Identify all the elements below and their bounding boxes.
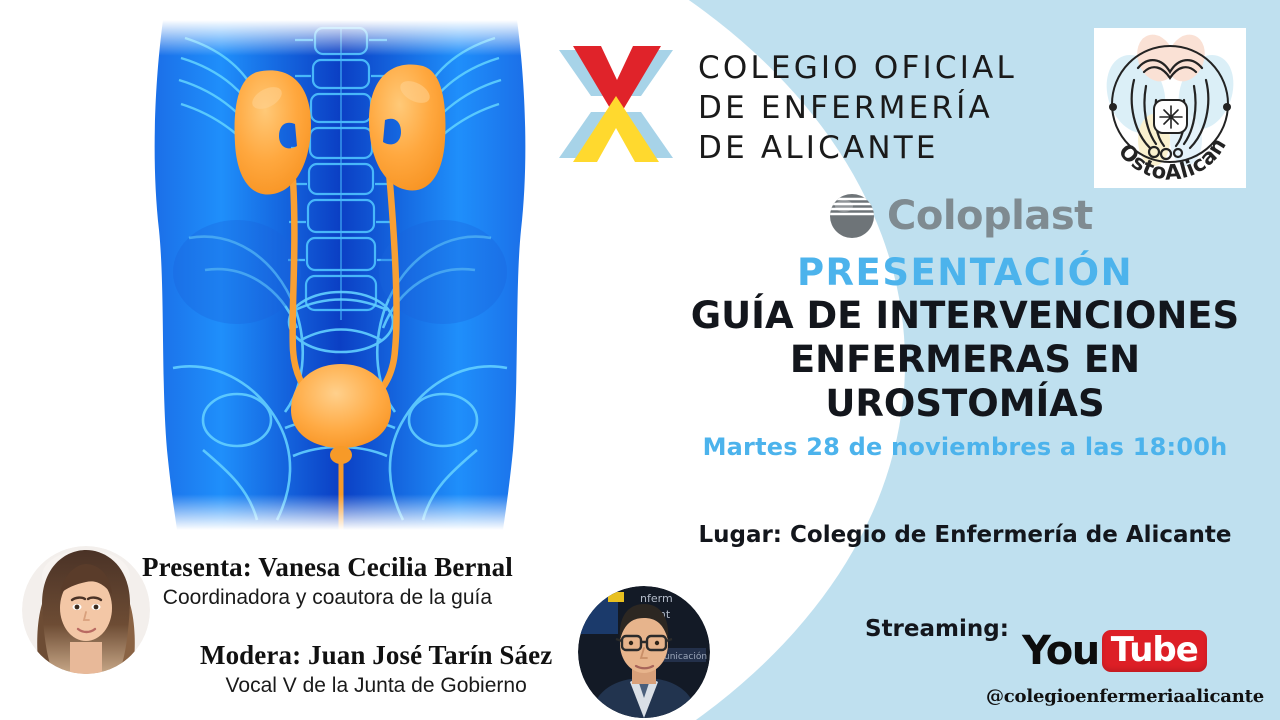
- coloplast-sphere-icon: [828, 192, 876, 240]
- headline-title-line-2: ENFERMERAS EN: [660, 338, 1270, 382]
- svg-text:unicación: unicación: [664, 651, 707, 662]
- event-datetime: Martes 28 de noviembres a las 18:00h: [660, 432, 1270, 462]
- avatar-vanesa-cecilia-bernal: [22, 546, 150, 674]
- presenter-1-name: Presenta: Vanesa Cecilia Bernal: [142, 552, 513, 583]
- presenter-1-role: Coordinadora y coautora de la guía: [142, 586, 513, 610]
- presenter-vanesa-cecilia-bernal: Presenta: Vanesa Cecilia Bernal Coordina…: [142, 552, 513, 610]
- avatar-juan-jose-tarin-saez: nferm licant unicación: [578, 586, 710, 718]
- event-venue: Lugar: Colegio de Enfermería de Alicante: [660, 522, 1270, 548]
- youtube-handle[interactable]: @colegioenfermeriaalicante: [986, 686, 1264, 707]
- streaming-label: Streaming:: [865, 616, 1009, 642]
- headline-title-line-3: UROSTOMÍAS: [660, 382, 1270, 426]
- event-poster: COLEGIO OFICIAL DE ENFERMERÍA DE ALICANT…: [0, 0, 1280, 720]
- presenter-juan-jose-tarin-saez: Modera: Juan José Tarín Sáez Vocal V de …: [200, 640, 552, 698]
- college-name-line1: COLEGIO OFICIAL: [698, 48, 1017, 88]
- sponsor-coloplast: Coloplast: [828, 192, 1093, 240]
- urinary-system-anatomy-illustration: [145, 20, 535, 530]
- youtube-logo-tube: Tube: [1111, 633, 1198, 667]
- youtube-logo-you: You: [1022, 631, 1099, 671]
- college-name: COLEGIO OFICIAL DE ENFERMERÍA DE ALICANT…: [698, 48, 1017, 168]
- college-logo-icon: [557, 36, 675, 168]
- headline-block: PRESENTACIÓN GUÍA DE INTERVENCIONES ENFE…: [660, 252, 1270, 462]
- college-name-line2: DE ENFERMERÍA: [698, 88, 1017, 128]
- coloplast-wordmark: Coloplast: [887, 193, 1093, 239]
- headline-kicker: PRESENTACIÓN: [660, 252, 1270, 294]
- ostoalicante-logo-icon: OstoAlicante: [1094, 28, 1246, 188]
- college-name-line3: DE ALICANTE: [698, 128, 1017, 168]
- headline-title-line-1: GUÍA DE INTERVENCIONES: [660, 294, 1270, 338]
- svg-text:nferm: nferm: [640, 592, 673, 605]
- youtube-logo-box: Tube: [1102, 630, 1207, 672]
- presenter-2-name: Modera: Juan José Tarín Sáez: [200, 640, 552, 671]
- youtube-logo[interactable]: You Tube: [1022, 627, 1184, 675]
- presenter-2-role: Vocal V de la Junta de Gobierno: [200, 674, 552, 698]
